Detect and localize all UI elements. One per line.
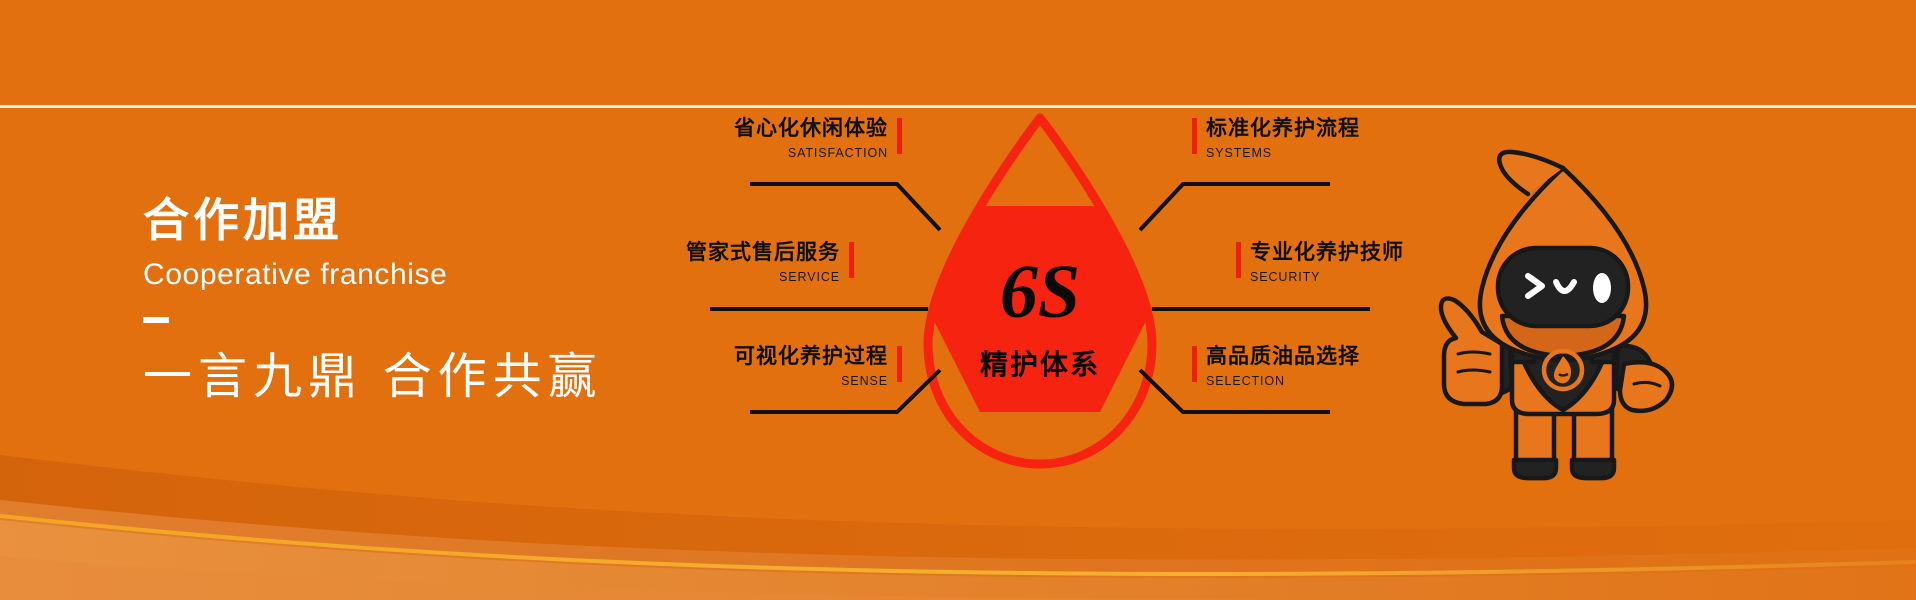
feature-label-cn: 标准化养护流程 [1206,118,1466,139]
feature-label-en: SENSE [628,375,888,388]
feature-label-cn: 高品质油品选择 [1206,346,1466,367]
page-title: 合作加盟 [143,196,783,244]
connector-left-top [750,184,940,230]
center-caption: 精护体系 [980,349,1100,380]
feature-label-en: SATISFACTION [628,147,888,160]
accent-tick [1192,346,1197,382]
headline-divider-mark [143,317,169,323]
mascot-shoe-right [1572,460,1614,478]
feature-label-satisfaction: 省心化休闲体验 SATISFACTION [628,118,902,160]
feature-label-systems: 标准化养护流程 SYSTEMS [1192,118,1466,160]
mascot-graphic [1438,148,1688,488]
accent-tick [849,242,854,278]
feature-label-sense: 可视化养护过程 SENSE [628,346,902,388]
feature-label-cn: 管家式售后服务 [580,242,840,263]
feature-label-cn: 可视化养护过程 [628,346,888,367]
feature-label-selection: 高品质油品选择 SELECTION [1192,346,1466,388]
diagram-graphics: 6S 精护体系 [700,112,1380,532]
feature-label-en: SELECTION [1206,375,1466,388]
mascot-open-hand [1620,362,1672,411]
six-s-diagram: 6S 精护体系 省心化休闲体验 SATISFACTION 管家式售后服务 SER… [700,112,1380,532]
connector-right-top [1140,184,1330,230]
feature-label-service: 管家式售后服务 SERVICE [580,242,854,284]
accent-tick [1192,118,1197,154]
franchise-banner: 合作加盟 Cooperative franchise 一言九鼎 合作共赢 6S [0,0,1916,600]
mascot [1438,148,1688,488]
accent-tick [1236,242,1241,278]
mascot-shoe-left [1514,460,1556,478]
top-divider [0,105,1916,108]
mascot-cheek-shine [1593,273,1611,303]
feature-label-en: SYSTEMS [1206,147,1466,160]
accent-tick [897,118,902,154]
accent-tick [897,346,902,382]
feature-label-cn: 省心化休闲体验 [628,118,888,139]
feature-label-en: SERVICE [580,271,840,284]
center-number: 6S [1000,250,1080,334]
